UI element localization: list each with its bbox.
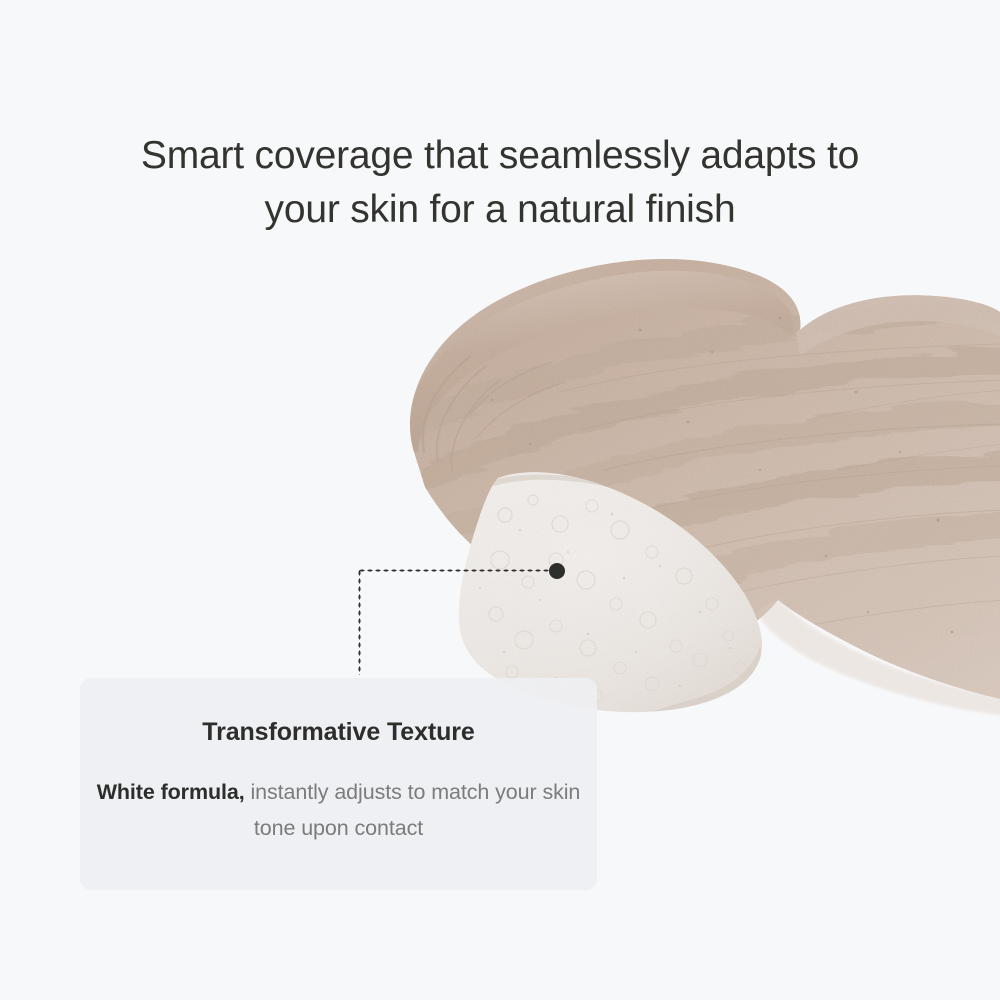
card-body-rest: instantly adjusts to match your skin ton… <box>245 780 581 840</box>
callout-dot-marker <box>549 563 565 579</box>
page-title: Smart coverage that seamlessly adapts to… <box>0 129 1000 237</box>
info-card: Transformative Texture White formula, in… <box>80 678 597 890</box>
callout-leader-vertical <box>358 569 361 675</box>
promo-graphic: Smart coverage that seamlessly adapts to… <box>0 0 1000 1000</box>
callout-leader-horizontal <box>358 569 555 572</box>
beige-cream-swatch <box>390 250 1000 722</box>
card-body-lead: White formula, <box>97 780 245 804</box>
card-body: White formula, instantly adjusts to matc… <box>80 774 597 846</box>
card-title: Transformative Texture <box>80 718 597 747</box>
